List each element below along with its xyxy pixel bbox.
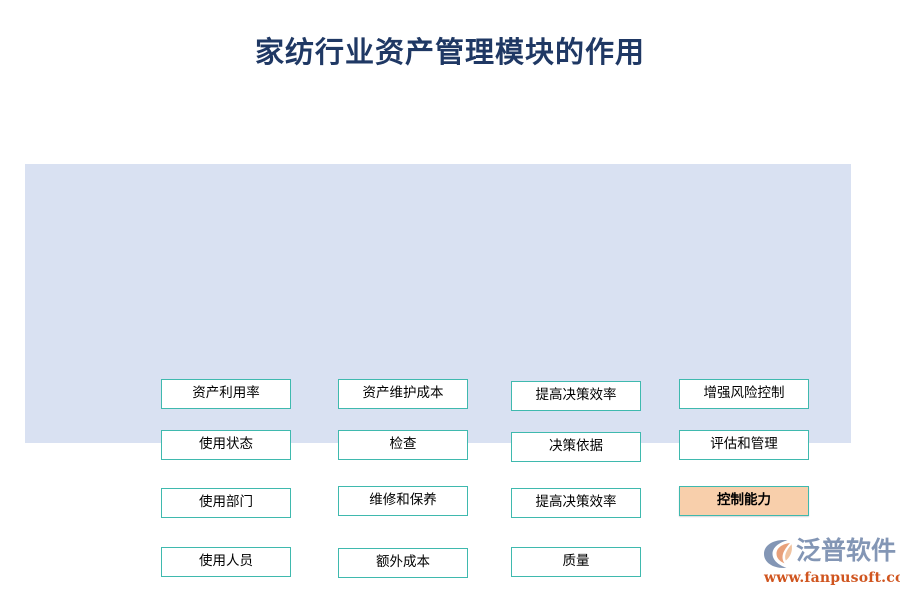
page-title: 家纺行业资产管理模块的作用 <box>0 32 900 72</box>
node-box[interactable]: 检查 <box>338 430 468 460</box>
logo-wordmark: 泛普软件 <box>796 535 896 567</box>
node-box[interactable]: 决策依据 <box>511 432 641 462</box>
node-box[interactable]: 维修和保养 <box>338 486 468 516</box>
brand-logo: 泛普软件 www.fanpusoft.com <box>762 534 894 590</box>
node-box-highlighted[interactable]: 控制能力 <box>679 486 809 516</box>
node-box[interactable]: 使用人员 <box>161 547 291 577</box>
diagram-panel: 资产利用率 使用状态 使用部门 使用人员 资产维护成本 检查 维修和保养 额外成… <box>25 164 851 443</box>
slide-canvas: 家纺行业资产管理模块的作用 资产利用率 使用状态 使用部门 使用人员 资产维护成… <box>0 0 900 600</box>
node-box[interactable]: 额外成本 <box>338 548 468 578</box>
logo-url: www.fanpusoft.com <box>764 570 900 586</box>
node-box[interactable]: 使用状态 <box>161 430 291 460</box>
node-box[interactable]: 资产维护成本 <box>338 379 468 409</box>
fanpu-swirl-logo-icon <box>762 538 796 570</box>
node-box[interactable]: 资产利用率 <box>161 379 291 409</box>
node-box[interactable]: 提高决策效率 <box>511 381 641 411</box>
node-box[interactable]: 增强风险控制 <box>679 379 809 409</box>
node-box[interactable]: 提高决策效率 <box>511 488 641 518</box>
node-box[interactable]: 使用部门 <box>161 488 291 518</box>
node-box[interactable]: 质量 <box>511 547 641 577</box>
node-box[interactable]: 评估和管理 <box>679 430 809 460</box>
